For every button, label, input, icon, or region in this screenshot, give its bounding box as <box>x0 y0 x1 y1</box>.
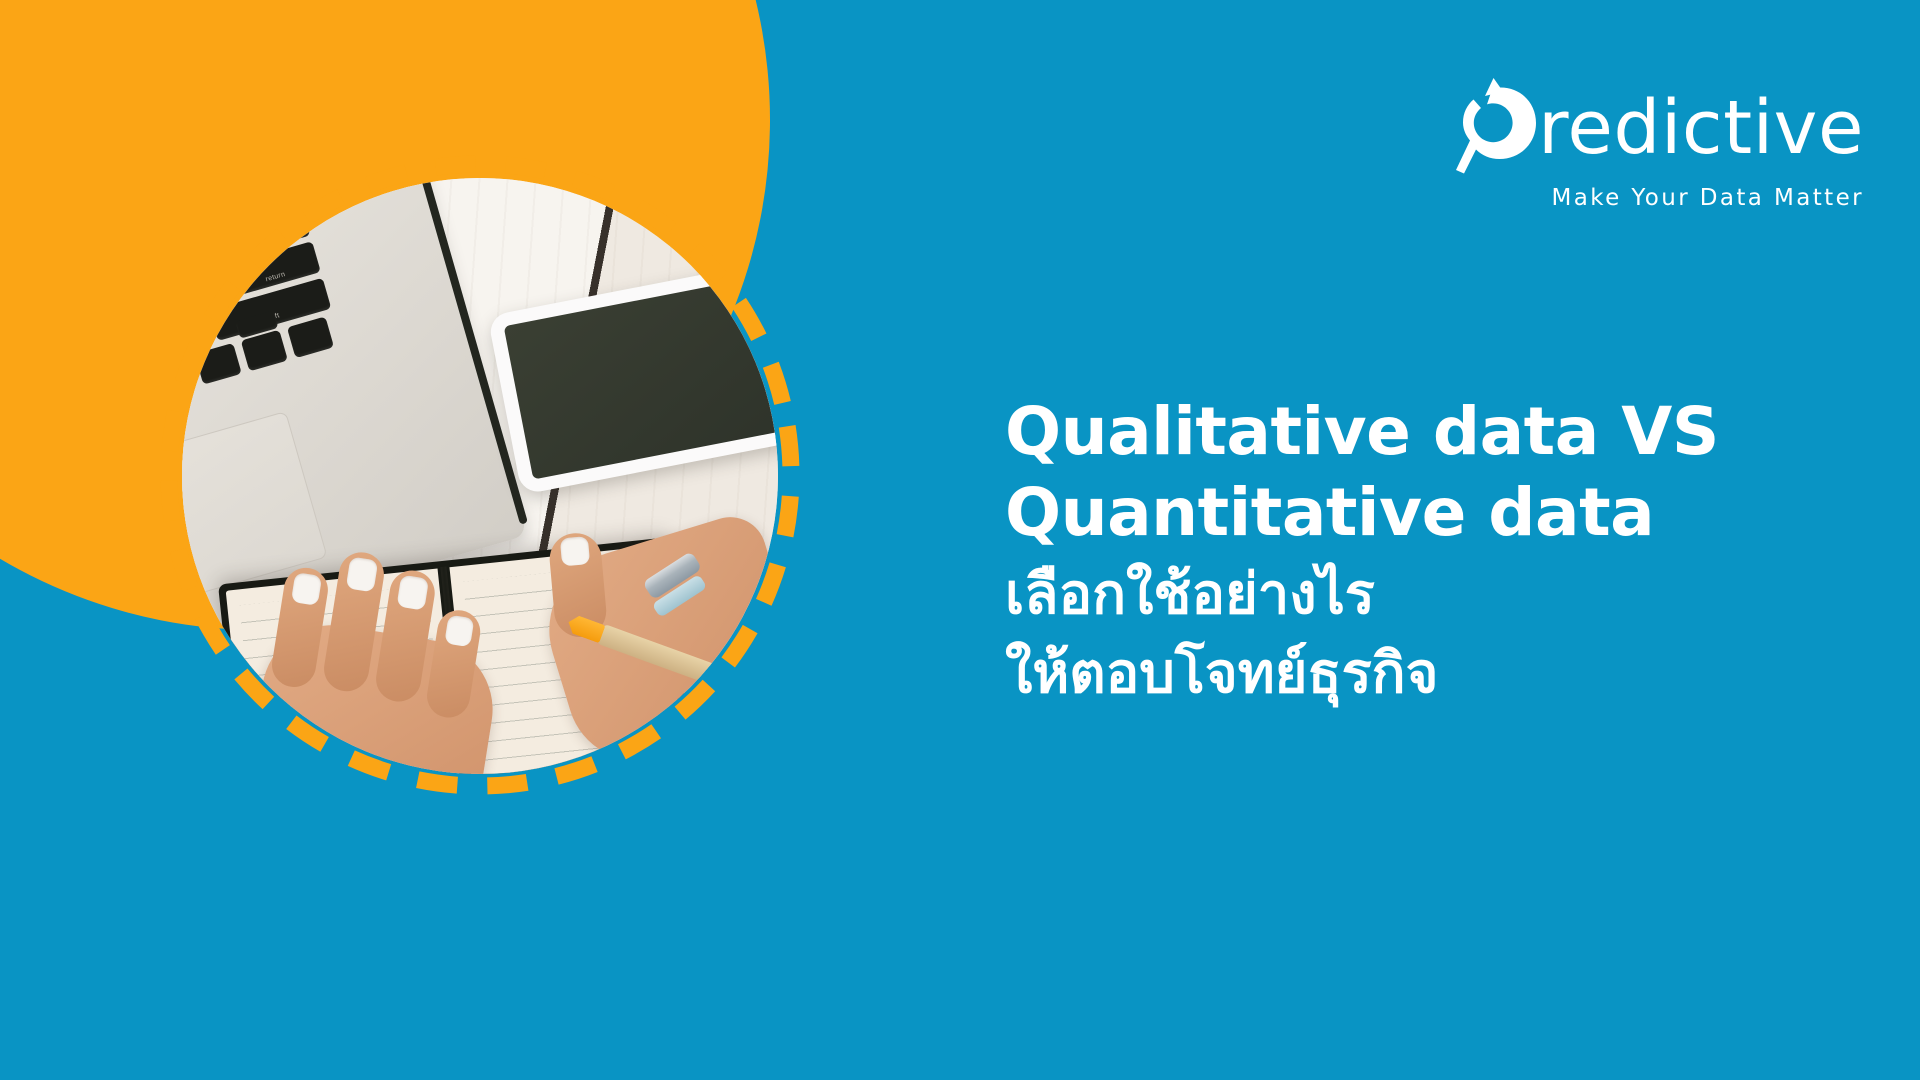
brand-logo[interactable]: redictive Make Your Data Matter <box>1450 78 1864 211</box>
headline-line-2: Quantitative data <box>1005 473 1865 554</box>
fingernail <box>444 615 474 648</box>
headline-line-1: Qualitative data VS <box>1005 392 1865 473</box>
pen <box>597 624 778 729</box>
banner-canvas: enter return shift ? option co <box>0 0 1920 1080</box>
logo-wordmark: redictive <box>1538 94 1864 162</box>
headline-block: Qualitative data VS Quantitative data เล… <box>1005 392 1865 710</box>
subheadline-line-2: ให้ตอบโจทย์ธุรกิจ <box>1005 636 1865 710</box>
logo-tagline: Make Your Data Matter <box>1450 185 1864 211</box>
fingernail <box>396 575 429 611</box>
fingernail <box>346 556 379 592</box>
key-arrow-left <box>195 343 242 385</box>
laptop-keyboard: enter return shift ? option co <box>182 205 349 430</box>
key-option: option <box>182 356 196 402</box>
logo-row: redictive <box>1450 78 1864 179</box>
fingernail <box>291 572 322 606</box>
predictive-p-swirl-icon <box>1450 78 1542 179</box>
hero-photo-circle: enter return shift ? option co <box>182 178 778 774</box>
fingernail <box>560 536 590 566</box>
hand-left <box>241 615 502 774</box>
smartphone-screen <box>504 274 778 479</box>
hero-photo-image: enter return shift ? option co <box>182 178 778 774</box>
key-arrow-right <box>287 316 334 358</box>
subheadline-line-1: เลือกใช้อย่างไร <box>1005 557 1865 631</box>
key-question: ? <box>182 312 210 354</box>
